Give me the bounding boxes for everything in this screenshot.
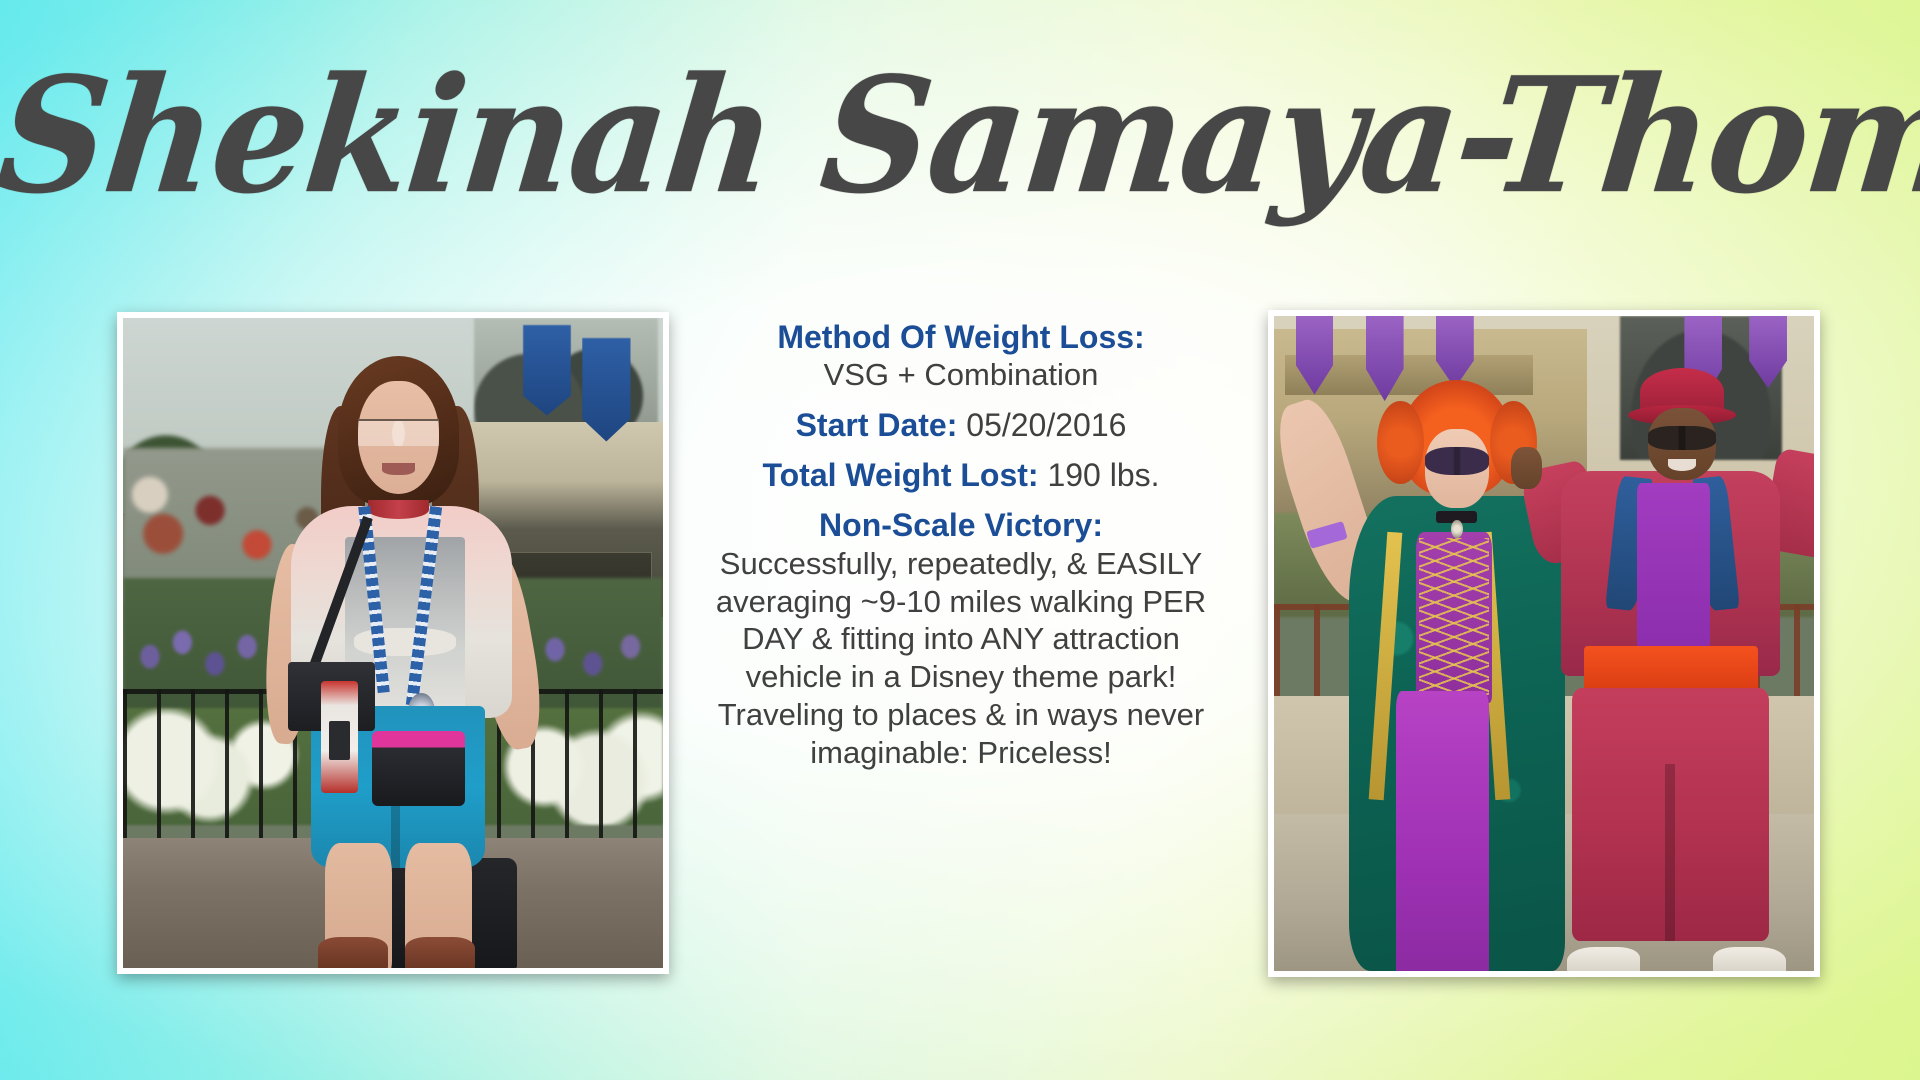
- sunglasses: [1648, 426, 1715, 450]
- red-necklace: [368, 500, 428, 519]
- page-title: Shekinah Samaya-Thomas: [0, 47, 1920, 225]
- method-value: VSG + Combination: [706, 356, 1216, 393]
- before-photo: [117, 312, 669, 974]
- eyeglasses: [358, 419, 438, 446]
- non-scale-victory-value: Successfully, repeatedly, & EASILY avera…: [706, 545, 1216, 772]
- non-scale-victory-block: Non-Scale Victory: Successfully, repeate…: [706, 506, 1216, 771]
- purple-shirt: [1637, 483, 1710, 652]
- after-photo-image: [1274, 316, 1814, 971]
- left-shoe: [1567, 947, 1640, 971]
- method-block: Method Of Weight Loss: VSG + Combination: [706, 318, 1216, 394]
- fanny-pack: [372, 731, 466, 806]
- start-date-label: Start Date:: [796, 407, 958, 443]
- right-sandal: [405, 937, 475, 968]
- smile: [1668, 459, 1696, 471]
- orange-sash: [1584, 646, 1758, 694]
- slide-canvas: Shekinah Samaya-Thomas: [0, 0, 1920, 1080]
- right-shoe: [1713, 947, 1786, 971]
- pendant: [1451, 520, 1463, 538]
- water-bottle: [321, 681, 358, 793]
- info-panel: Method Of Weight Loss: VSG + Combination…: [706, 318, 1216, 784]
- non-scale-victory-label: Non-Scale Victory:: [706, 506, 1216, 544]
- total-weight-lost-value: 190 lbs.: [1047, 457, 1159, 493]
- method-label: Method Of Weight Loss:: [706, 318, 1216, 356]
- total-weight-lost-label: Total Weight Lost:: [762, 457, 1038, 493]
- before-person: [231, 344, 566, 968]
- red-pants: [1572, 688, 1769, 941]
- total-weight-lost-block: Total Weight Lost: 190 lbs.: [706, 456, 1216, 494]
- after-photo: [1268, 310, 1820, 977]
- sunglasses: [1425, 447, 1489, 474]
- start-date-value: 05/20/2016: [966, 407, 1126, 443]
- left-hand: [1511, 447, 1542, 489]
- purple-skirt: [1396, 691, 1489, 971]
- pirate-costume-person: [1533, 368, 1814, 971]
- gold-corset-laces: [1419, 538, 1489, 696]
- start-date-block: Start Date: 05/20/2016: [706, 406, 1216, 444]
- before-photo-image: [123, 318, 663, 968]
- left-sandal: [318, 937, 388, 968]
- smile: [382, 463, 415, 475]
